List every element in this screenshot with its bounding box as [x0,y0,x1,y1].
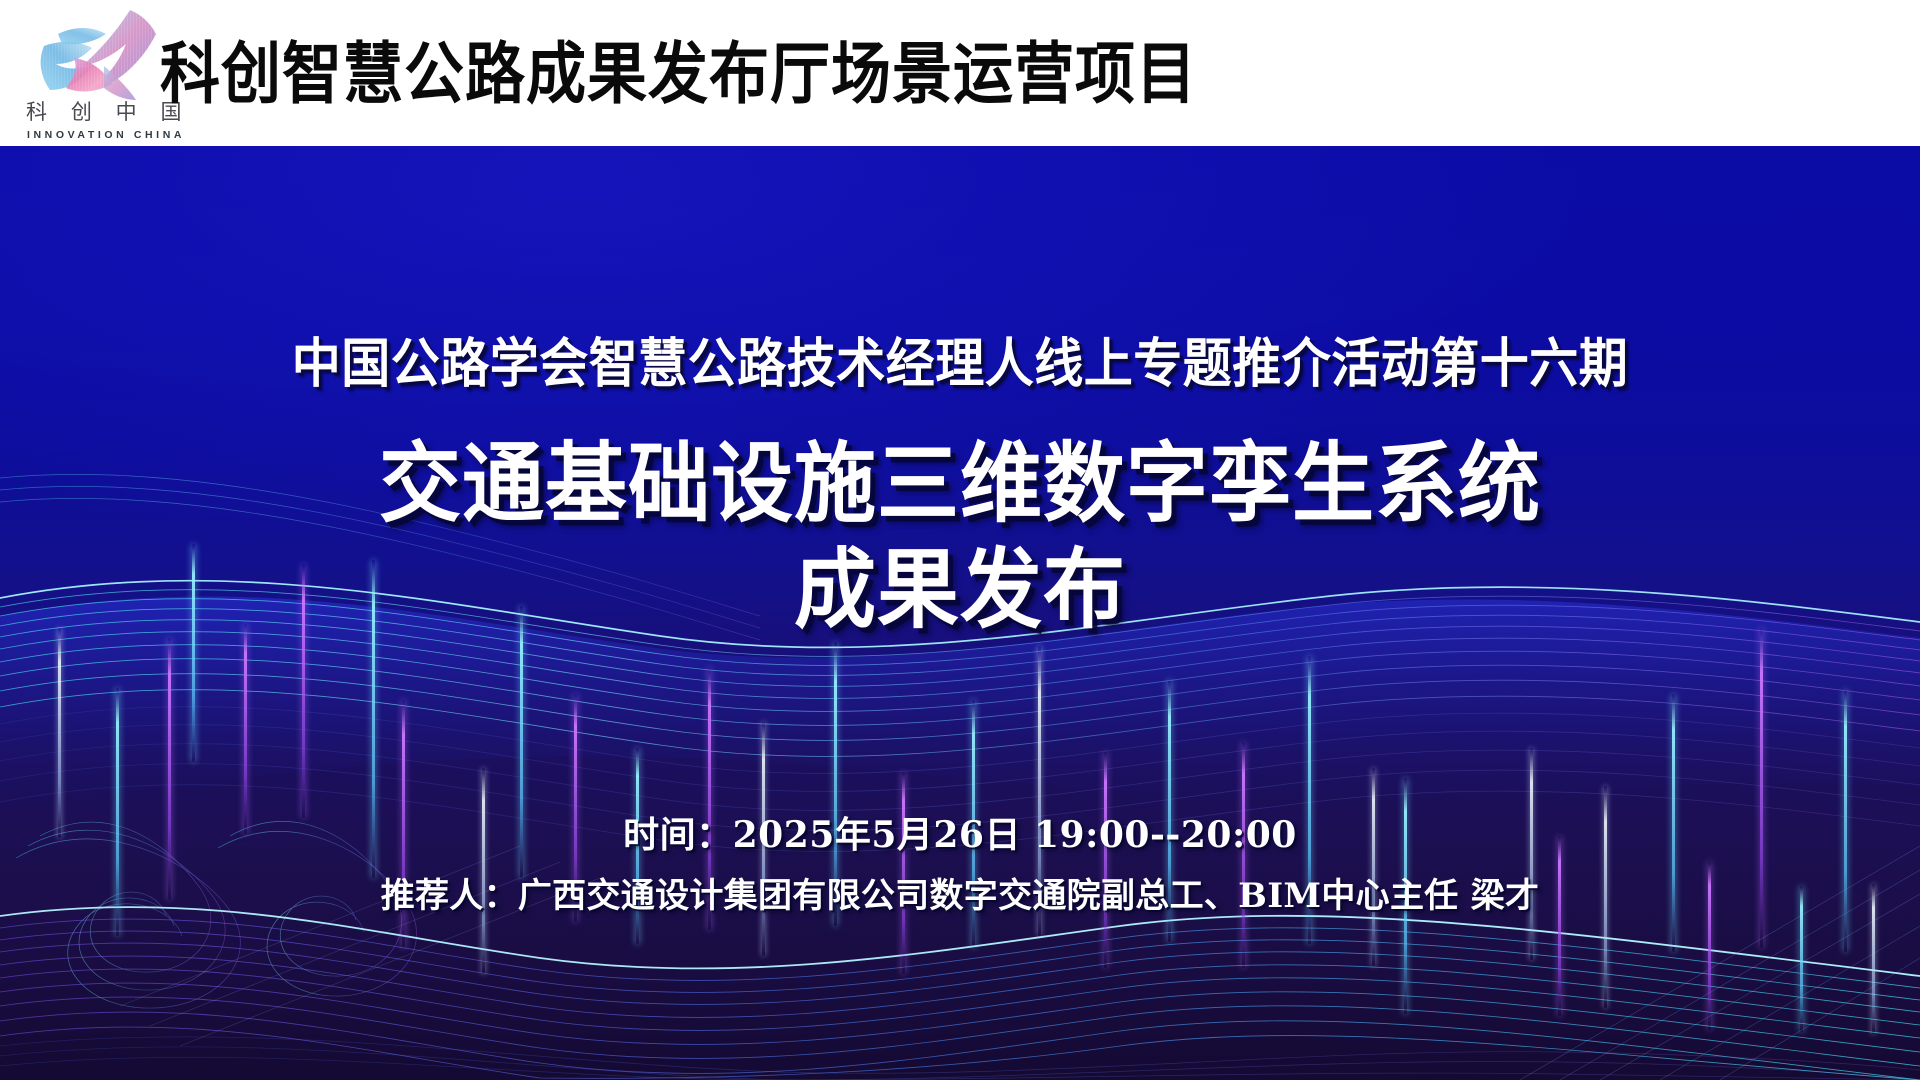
logo-english-label: INNOVATION CHINA [24,130,188,141]
header-band: 科 创 中 国 INNOVATION CHINA 科创智慧公路成果发布厅场景运营… [0,0,1920,146]
main-title-line-1: 交通基础设施三维数字孪生系统 [0,432,1920,538]
hero-content: 中国公路学会智慧公路技术经理人线上专题推介活动第十六期 交通基础设施三维数字孪生… [0,146,1920,1080]
event-series-subtitle: 中国公路学会智慧公路技术经理人线上专题推介活动第十六期 [0,321,1920,398]
poster-root: 中国公路学会智慧公路技术经理人线上专题推介活动第十六期 交通基础设施三维数字孪生… [0,0,1920,1080]
event-presenter-line: 推荐人：广西交通设计集团有限公司数字交通院副总工、BIM中心主任 梁才 [0,868,1920,917]
main-title-line-2: 成果发布 [0,538,1920,644]
innovation-china-logo-icon [34,6,174,102]
page-title: 科创智慧公路成果发布厅场景运营项目 [160,12,1197,124]
event-time-line: 时间：2025年5月26日 19:00--20:00 [0,806,1920,858]
main-title: 交通基础设施三维数字孪生系统 成果发布 [0,432,1920,644]
